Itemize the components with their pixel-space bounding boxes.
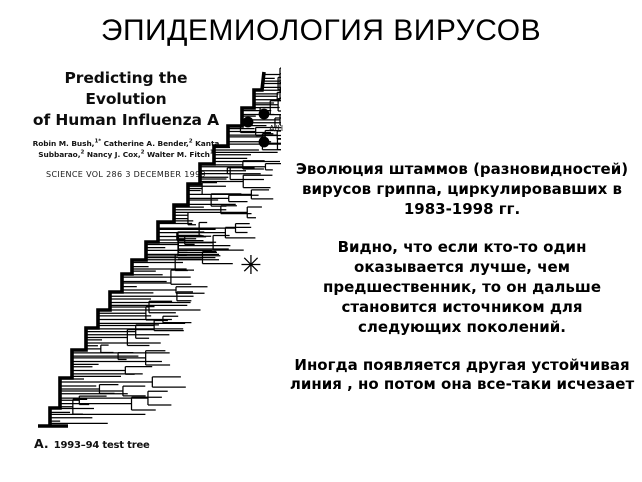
paragraph: Иногда появляется другая устойчивая лини… (288, 356, 636, 396)
paragraph: Видно, что если кто-то один оказывается … (288, 238, 636, 338)
figure-caption-letter: A. (34, 436, 49, 451)
phylogenetic-tree: A/H ✳ (28, 60, 284, 435)
tree-trunk-path (38, 72, 264, 426)
clade-marker-asterisk: ✳ (240, 251, 262, 281)
slide-canvas: ЭПИДЕМИОЛОГИЯ ВИРУСОВ Predicting the Evo… (0, 0, 642, 482)
clade-label-ah: A/H (269, 124, 283, 133)
figure-caption: A. 1993–94 test tree (34, 433, 150, 452)
figure-caption-text: 1993–94 test tree (54, 440, 150, 451)
tree-clade-dot (243, 117, 254, 128)
tree-clade-dot (259, 137, 270, 148)
tree-clade-dot (259, 109, 270, 120)
body-text-block: Эволюция штаммов (разновидностей) вирусо… (288, 160, 636, 395)
figure-panel: Predicting the Evolution of Human Influe… (28, 60, 284, 460)
page-title: ЭПИДЕМИОЛОГИЯ ВИРУСОВ (0, 14, 642, 48)
paragraph: Эволюция штаммов (разновидностей) вирусо… (288, 160, 636, 220)
